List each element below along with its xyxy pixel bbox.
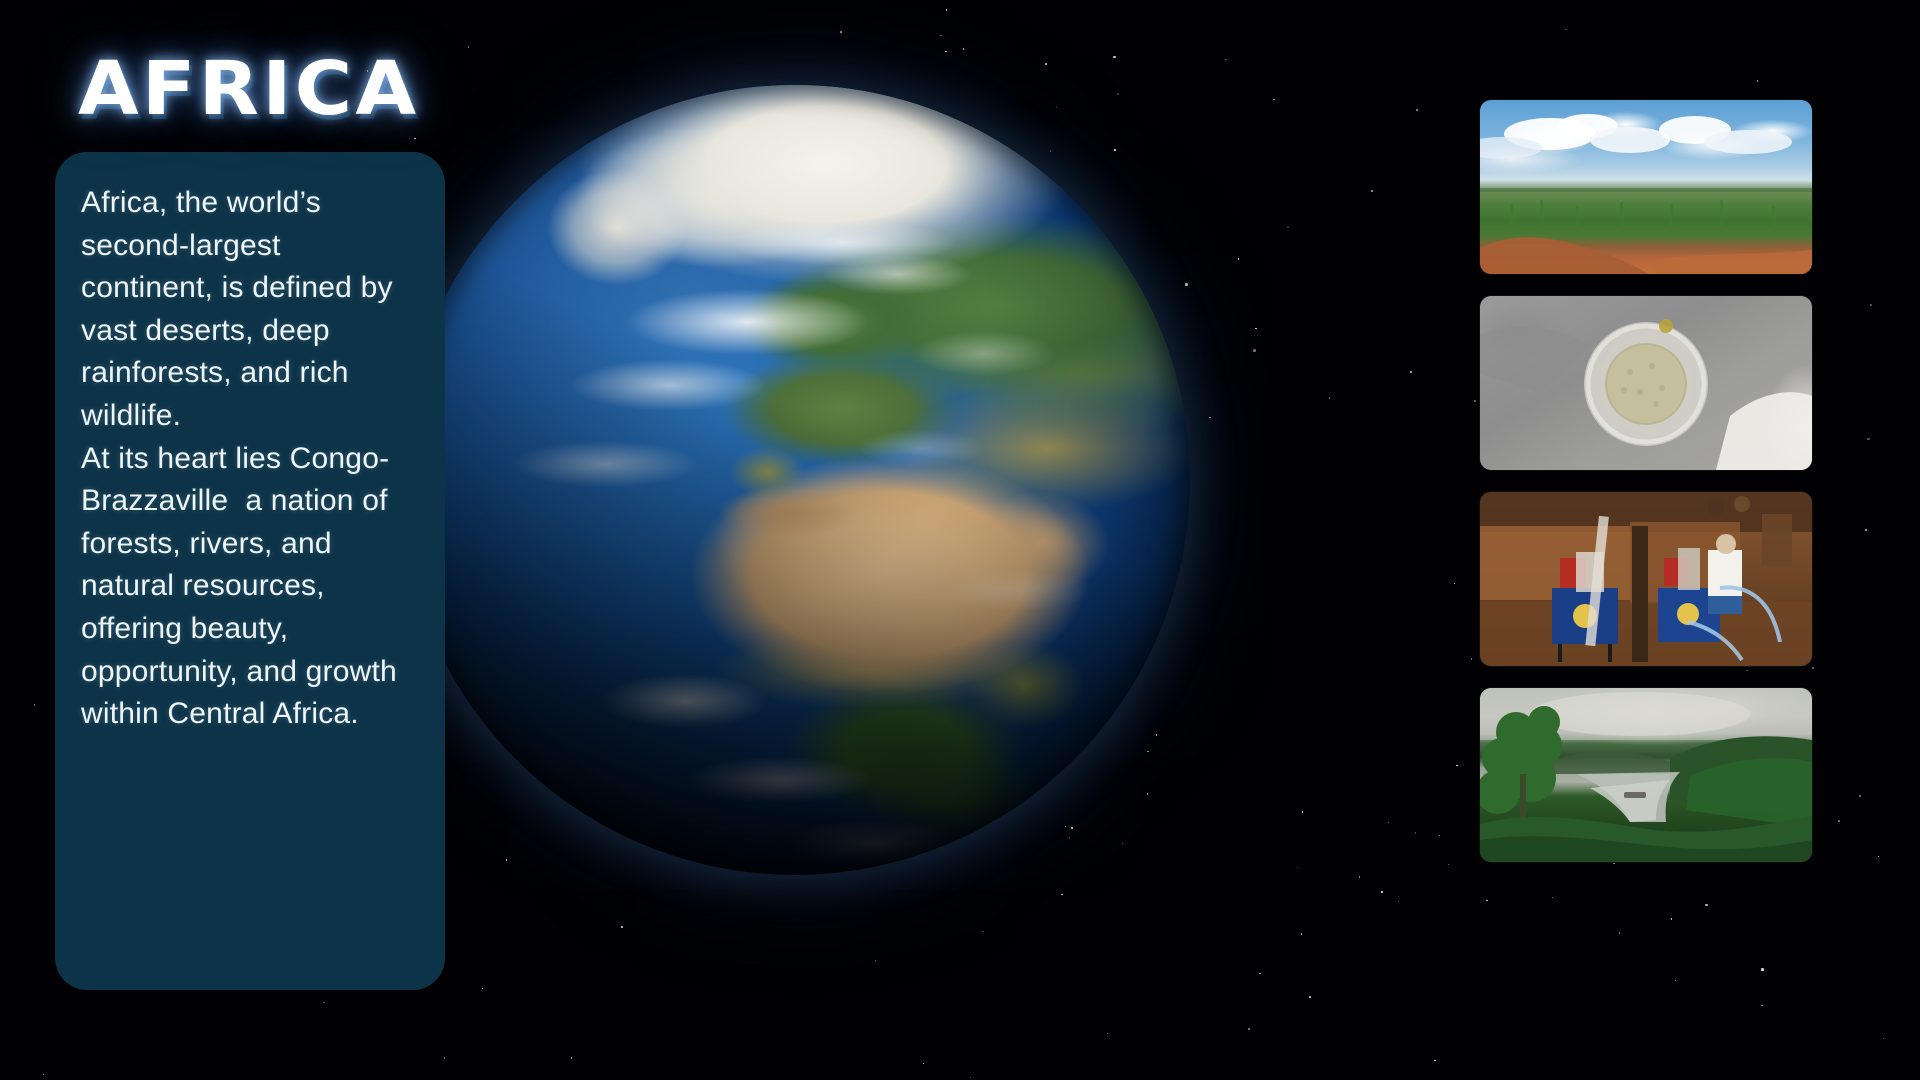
star — [1371, 190, 1373, 192]
thumbnail-savanna[interactable] — [1480, 100, 1812, 274]
star — [1113, 56, 1116, 59]
star — [1388, 822, 1390, 824]
star — [1410, 371, 1412, 373]
star — [1439, 835, 1441, 837]
earth-globe — [400, 85, 1190, 1080]
star — [1838, 820, 1840, 822]
globe-limb — [400, 85, 1190, 875]
star — [1045, 63, 1047, 65]
star — [1859, 795, 1862, 798]
star — [1248, 1028, 1250, 1030]
star — [1255, 328, 1257, 330]
star — [1302, 811, 1304, 813]
slide-canvas: AFRICA Africa, the world’s second-larges… — [0, 0, 1920, 1080]
workshop-detail — [1480, 492, 1812, 666]
star — [34, 704, 36, 706]
star — [1757, 80, 1759, 82]
star — [946, 9, 948, 11]
globe-sphere — [400, 85, 1190, 875]
star — [1309, 996, 1311, 998]
star — [1359, 876, 1361, 878]
page-title: AFRICA — [78, 46, 419, 132]
star — [1301, 933, 1303, 935]
star — [1456, 765, 1458, 767]
savanna-detail — [1480, 100, 1812, 274]
star — [1552, 897, 1554, 899]
star — [1273, 99, 1275, 101]
star — [1867, 438, 1870, 441]
star — [1761, 1005, 1763, 1007]
star — [1565, 29, 1567, 31]
thumbnail-river-forest[interactable] — [1480, 688, 1812, 862]
grain-bowl-detail — [1480, 296, 1812, 470]
star — [840, 31, 842, 33]
star — [1287, 226, 1290, 229]
star — [1238, 258, 1240, 260]
star — [1448, 864, 1450, 866]
star — [940, 35, 942, 37]
star — [1761, 968, 1764, 971]
star — [1259, 973, 1261, 975]
star — [1225, 59, 1227, 61]
star — [323, 1002, 325, 1004]
star — [1613, 863, 1615, 865]
star — [945, 51, 947, 53]
description-card: Africa, the world’s second-largest conti… — [55, 152, 445, 990]
description-text: Africa, the world’s second-largest conti… — [81, 182, 417, 736]
star — [1705, 904, 1708, 907]
star — [1297, 867, 1299, 869]
star — [1454, 583, 1456, 585]
star — [1209, 417, 1211, 419]
star — [1253, 349, 1256, 352]
thumbnail-rail — [1480, 100, 1812, 862]
star — [1883, 1038, 1885, 1040]
thumbnail-grain-bowl[interactable] — [1480, 296, 1812, 470]
star — [1471, 658, 1473, 660]
star — [963, 48, 965, 50]
star — [1398, 901, 1400, 903]
star — [1671, 918, 1673, 920]
thumbnail-workshop[interactable] — [1480, 492, 1812, 666]
star — [1416, 109, 1418, 111]
star — [43, 1074, 45, 1076]
star — [1329, 397, 1331, 399]
star — [1415, 832, 1417, 834]
star — [1812, 667, 1814, 669]
star — [1870, 304, 1872, 306]
star — [1619, 932, 1621, 934]
star — [468, 46, 470, 48]
star — [1474, 400, 1476, 402]
river-forest-detail — [1480, 688, 1812, 862]
star — [1675, 980, 1677, 982]
star — [1381, 891, 1383, 893]
star — [1878, 856, 1880, 858]
star — [1865, 529, 1867, 531]
star — [1434, 1060, 1436, 1062]
star — [1486, 900, 1488, 902]
